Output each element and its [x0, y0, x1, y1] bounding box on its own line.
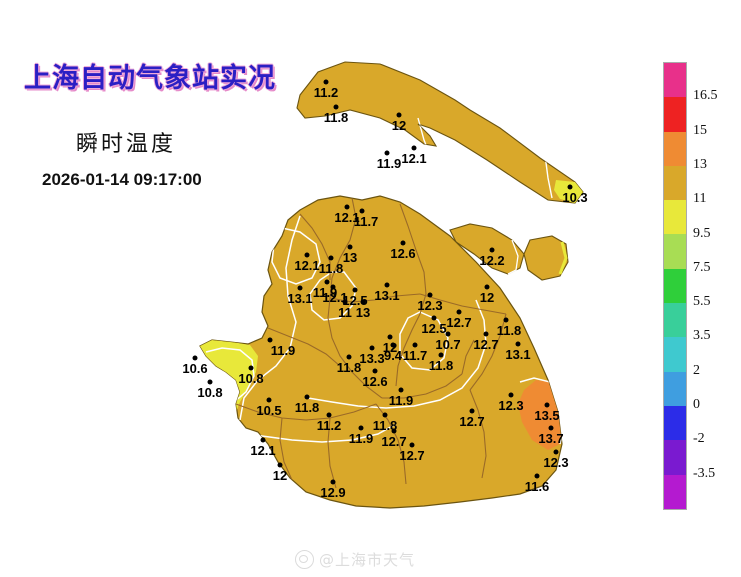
station-value: 12.2 — [479, 254, 504, 267]
colorbar-tick-label: 13 — [693, 157, 707, 173]
colorbar-tick-label: 9.5 — [693, 226, 711, 242]
station-dot — [457, 310, 462, 315]
station-value: 11.9 — [389, 394, 414, 407]
station-dot — [509, 393, 514, 398]
station-dot — [331, 285, 336, 290]
chongming-island — [297, 62, 583, 203]
station-dot — [325, 280, 330, 285]
station-value: 11.8 — [497, 324, 522, 337]
station-value: 13.5 — [534, 409, 559, 422]
shanghai-temperature-map[interactable]: 11.211.81211.912.110.312.212.111.71312.6… — [0, 0, 630, 560]
station-dot — [268, 338, 273, 343]
station-value: 12.7 — [473, 338, 498, 351]
colorbar-tick-label: 7.5 — [693, 260, 711, 276]
station-dot — [208, 380, 213, 385]
station-dot — [446, 332, 451, 337]
station-value: 11 — [338, 306, 352, 319]
station-dot — [383, 413, 388, 418]
station-dot — [347, 355, 352, 360]
station-value: 12.3 — [498, 399, 523, 412]
colorbar-tick-label: 2 — [693, 363, 700, 379]
station-value: 11.7 — [354, 215, 379, 228]
station-value: 12.1 — [294, 259, 319, 272]
station-dot — [399, 388, 404, 393]
station-dot — [385, 151, 390, 156]
station-dot — [360, 209, 365, 214]
station-value: 11.6 — [525, 480, 550, 493]
colorbar-tick-label: 16.5 — [693, 88, 718, 104]
station-dot — [193, 356, 198, 361]
station-dot — [267, 398, 272, 403]
station-dot — [329, 256, 334, 261]
station-value: 12.7 — [381, 435, 406, 448]
station-value: 13 — [356, 306, 370, 319]
colorbar-tick-label: 15 — [693, 123, 707, 139]
station-dot — [298, 286, 303, 291]
station-dot — [549, 426, 554, 431]
station-value: 11.2 — [314, 86, 339, 99]
station-value: 13.1 — [505, 348, 530, 361]
station-value: 9.4 — [384, 349, 402, 362]
station-value: 10.5 — [256, 404, 281, 417]
colorbar-tick-label: 0 — [693, 397, 700, 413]
station-dot — [261, 438, 266, 443]
station-value: 11.8 — [295, 401, 320, 414]
station-dot — [413, 343, 418, 348]
station-value: 13.1 — [287, 292, 312, 305]
station-dot — [432, 316, 437, 321]
station-value: 12.7 — [459, 415, 484, 428]
station-dot — [485, 285, 490, 290]
station-dot — [568, 185, 573, 190]
station-value: 10.8 — [238, 372, 263, 385]
station-value: 12.6 — [362, 375, 387, 388]
weather-map-page: 上海自动气象站实况 瞬时温度 2026-01-14 09:17:00 — [0, 0, 741, 577]
station-value: 12.3 — [543, 456, 568, 469]
station-value: 13.1 — [374, 289, 399, 302]
station-value: 12 — [392, 119, 406, 132]
station-dot — [490, 248, 495, 253]
station-dot — [554, 450, 559, 455]
station-dot — [249, 366, 254, 371]
station-value: 12 — [480, 291, 494, 304]
station-value: 11.8 — [337, 361, 362, 374]
station-dot — [348, 245, 353, 250]
station-value: 12.7 — [446, 316, 471, 329]
weibo-icon — [295, 550, 314, 569]
station-dot — [373, 369, 378, 374]
station-dot — [397, 113, 402, 118]
station-dot — [359, 426, 364, 431]
station-dot — [388, 335, 393, 340]
station-dot — [401, 241, 406, 246]
station-dot — [504, 318, 509, 323]
station-value: 11.2 — [317, 419, 342, 432]
colorbar-tick-label: 11 — [693, 191, 706, 207]
station-dot — [343, 300, 348, 305]
station-dot — [385, 283, 390, 288]
station-dot — [516, 342, 521, 347]
station-dot — [353, 288, 358, 293]
station-value: 10.8 — [197, 386, 222, 399]
station-value: 10.6 — [182, 362, 207, 375]
station-dot — [278, 463, 283, 468]
station-dot — [334, 105, 339, 110]
station-value: 11.7 — [403, 349, 428, 362]
colorbar-tick-label: 5.5 — [693, 294, 711, 310]
station-dot — [391, 343, 396, 348]
temperature-colorbar-ticks: 16.51513119.57.55.53.520-2-3.5 — [663, 62, 733, 510]
station-value: 12.6 — [390, 247, 415, 260]
station-dot — [470, 409, 475, 414]
station-value: 12.5 — [421, 322, 446, 335]
station-dot — [410, 443, 415, 448]
station-dot — [305, 253, 310, 258]
station-dot — [545, 403, 550, 408]
colorbar-tick-label: 3.5 — [693, 328, 711, 344]
station-dot — [439, 353, 444, 358]
station-value: 12.3 — [417, 299, 442, 312]
station-dot — [392, 429, 397, 434]
station-value: 13.7 — [538, 432, 563, 445]
station-value: 11.8 — [429, 359, 454, 372]
station-dot — [327, 413, 332, 418]
station-value: 13.3 — [359, 352, 384, 365]
station-value: 10.3 — [562, 191, 587, 204]
station-value: 10.7 — [435, 338, 460, 351]
station-value: 11.8 — [324, 111, 349, 124]
station-value: 11.8 — [319, 262, 344, 275]
station-dot — [535, 474, 540, 479]
station-dot — [428, 293, 433, 298]
station-dot — [412, 146, 417, 151]
station-value: 11.9 — [377, 157, 402, 170]
station-dot — [484, 332, 489, 337]
hengsha-island — [524, 236, 568, 280]
station-dot — [331, 480, 336, 485]
watermark-text: @上海市天气 — [319, 549, 415, 570]
station-value: 12 — [273, 469, 287, 482]
station-dot — [370, 346, 375, 351]
station-dot — [345, 205, 350, 210]
station-dot — [305, 395, 310, 400]
station-value: 11.9 — [271, 344, 296, 357]
station-value: 11.9 — [349, 432, 374, 445]
station-value: 13 — [343, 251, 357, 264]
colorbar-tick-label: -3.5 — [693, 466, 715, 482]
watermark: @上海市天气 — [295, 549, 415, 570]
station-dot — [361, 300, 366, 305]
station-dot — [324, 80, 329, 85]
station-value: 12.7 — [399, 449, 424, 462]
station-value: 12.9 — [320, 486, 345, 499]
station-value: 12.1 — [250, 444, 275, 457]
station-value: 12.1 — [401, 152, 426, 165]
colorbar-tick-label: -2 — [693, 431, 705, 447]
